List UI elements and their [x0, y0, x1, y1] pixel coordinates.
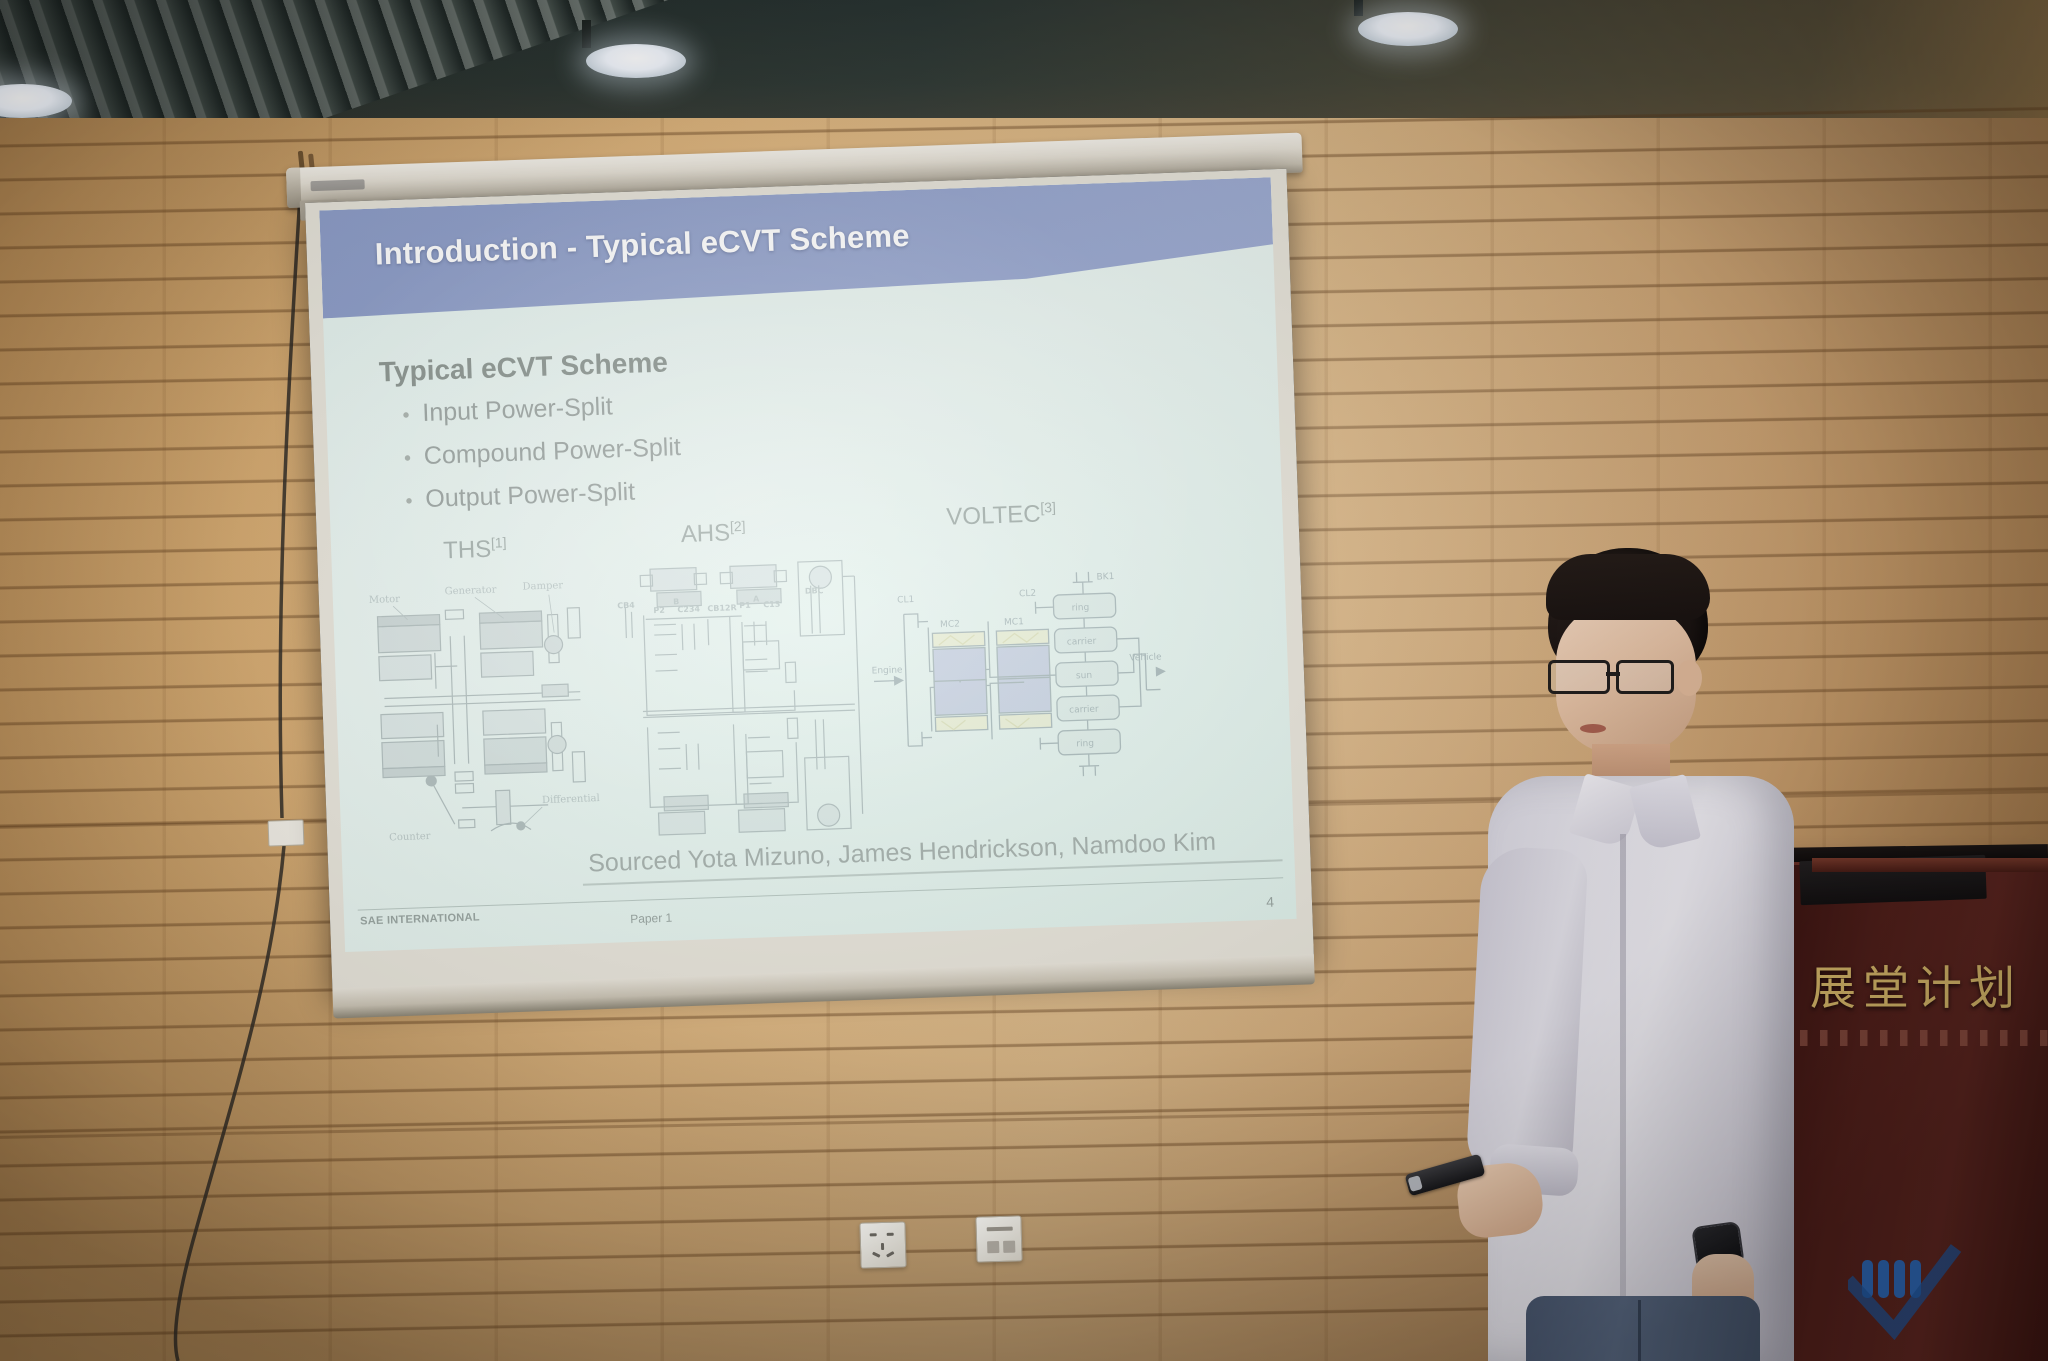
svg-text:C13: C13: [763, 600, 780, 610]
slide-subtitle: Typical eCVT Scheme: [378, 346, 668, 388]
list-item: • Compound Power-Split: [403, 420, 1044, 471]
shirt-sleeve: [1465, 845, 1588, 1180]
svg-text:CB12R: CB12R: [707, 603, 737, 613]
eyeglass-lens: [1616, 660, 1674, 694]
ths-schematic: Motor Generator Damper Differential Coun…: [362, 570, 641, 847]
lectern-desk-surface: [1812, 858, 2048, 872]
slide-page-number: 4: [1266, 894, 1274, 910]
diagram-ref: [2]: [730, 518, 746, 535]
svg-text:ring: ring: [1071, 603, 1089, 614]
svg-text:carrier: carrier: [1069, 705, 1099, 716]
svg-text:BK1: BK1: [1096, 572, 1114, 583]
diagram-title-voltec: VOLTEC[3]: [946, 499, 1057, 532]
list-item: • Input Power-Split: [402, 377, 1043, 428]
svg-text:Motor: Motor: [369, 594, 401, 606]
presenter: [1480, 548, 1800, 1361]
svg-text:Vehicle: Vehicle: [1129, 652, 1162, 663]
data-port-plate[interactable]: [975, 1215, 1022, 1262]
shirt-placket: [1620, 834, 1626, 1334]
bullet-dot-icon: •: [405, 491, 426, 512]
diagram-ref: [1]: [491, 534, 507, 551]
bullet-dot-icon: •: [404, 448, 425, 469]
diagram-title-ths: THS[1]: [443, 534, 508, 565]
presenter-hair-front: [1546, 554, 1710, 620]
svg-text:CL1: CL1: [897, 595, 914, 606]
svg-text:Engine: Engine: [872, 665, 904, 676]
svg-text:Differential: Differential: [542, 793, 600, 806]
svg-text:C234: C234: [677, 604, 700, 614]
pendant-stem: [582, 20, 591, 48]
svg-text:CB4: CB4: [617, 601, 635, 611]
svg-text:MC2: MC2: [940, 619, 960, 630]
bullet-dot-icon: •: [402, 405, 423, 426]
svg-text:sun: sun: [1076, 671, 1092, 682]
footer-divider: [358, 877, 1283, 910]
diagram-name: VOLTEC: [946, 501, 1041, 531]
diagram-row: THS[1] AHS[2] VOLTEC[3]: [331, 507, 1294, 870]
lectern-logo: [1848, 1244, 1988, 1354]
eyeglasses: [1544, 660, 1694, 700]
presentation-slide: Introduction - Typical eCVT Scheme Typic…: [319, 177, 1296, 952]
svg-text:B: B: [673, 597, 679, 606]
trouser-seam: [1638, 1300, 1641, 1361]
diagram-name: AHS: [680, 519, 730, 548]
presenter-mouth: [1580, 724, 1606, 733]
power-outlet[interactable]: [859, 1221, 906, 1268]
voltec-schematic: Engine CL1 CL2 MC2 MC1 BK1 Vehicle ring …: [868, 563, 1176, 803]
list-item-label: Input Power-Split: [422, 392, 613, 428]
svg-text:Damper: Damper: [522, 580, 563, 592]
list-item-label: Output Power-Split: [425, 478, 636, 514]
diagram-name: THS: [443, 536, 492, 565]
svg-text:MC1: MC1: [1004, 617, 1024, 628]
diagram-ref: [3]: [1040, 499, 1056, 516]
svg-text:P2: P2: [653, 606, 665, 615]
svg-text:carrier: carrier: [1067, 637, 1097, 648]
svg-text:P1: P1: [739, 601, 751, 610]
svg-text:DBC: DBC: [805, 586, 824, 596]
pendant-stem: [1354, 0, 1363, 16]
footer-paper-id: Paper 1: [630, 911, 672, 926]
brand-logo: [310, 179, 364, 191]
svg-text:Generator: Generator: [444, 585, 496, 598]
eyeglass-bridge: [1606, 672, 1620, 676]
svg-text:ring: ring: [1076, 739, 1094, 750]
presentation-room-photo: Introduction - Typical eCVT Scheme Typic…: [0, 0, 2048, 1361]
pendant-lamp: [1358, 12, 1458, 46]
cable-junction-box: [268, 819, 305, 846]
svg-text:CL2: CL2: [1019, 589, 1036, 600]
projection-screen: Introduction - Typical eCVT Scheme Typic…: [305, 169, 1314, 993]
diagram-title-ahs: AHS[2]: [680, 518, 746, 549]
footer-brand: SAE INTERNATIONAL: [360, 911, 480, 927]
list-item-label: Compound Power-Split: [423, 433, 681, 471]
lectern-stud-trim: [1800, 1030, 2048, 1046]
pendant-lamp: [586, 44, 686, 78]
eyeglass-lens: [1548, 660, 1610, 694]
svg-text:A: A: [753, 594, 760, 603]
presenter-trousers: [1526, 1296, 1760, 1361]
svg-text:Counter: Counter: [389, 831, 431, 843]
ahs-schematic: CB4 P2 C234 CB12R P1 C13 DBC B A: [614, 556, 874, 845]
lectern-sign-text: 展堂计划: [1810, 952, 2022, 1018]
clicker-tip: [1408, 1175, 1423, 1192]
